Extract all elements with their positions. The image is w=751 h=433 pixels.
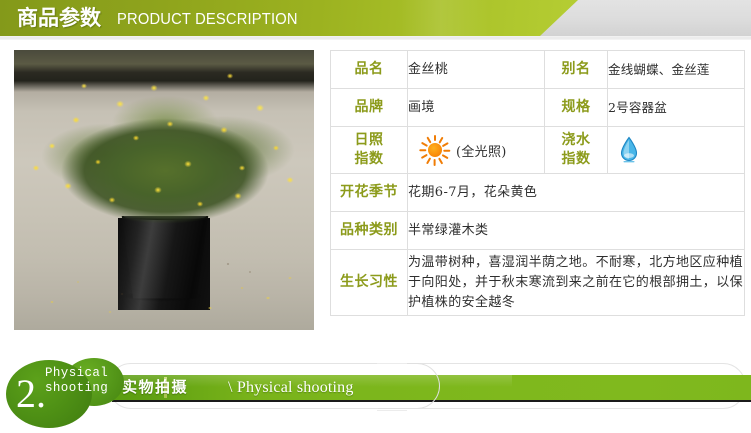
- spec-value-bieming: 金线蝴蝶、金丝莲: [608, 51, 745, 89]
- sun-icon: [418, 133, 452, 167]
- table-row: 日照 指数: [331, 127, 745, 174]
- spec-value-jiaoshui-zhishu: [608, 127, 745, 174]
- spec-table: 品名 金丝桃 别名 金线蝴蝶、金丝莲 品牌 画境 规格 2号容器盆 日照 指数: [330, 50, 745, 316]
- header-sheen: [400, 0, 490, 36]
- spec-label-bieming: 别名: [545, 51, 608, 89]
- section-title-cn: 实物拍摄: [122, 376, 188, 399]
- sun-core: [428, 143, 442, 157]
- table-row: 品种类别 半常绿灌木类: [331, 212, 745, 250]
- spec-label-rizhao-zhishu: 日照 指数: [331, 127, 408, 174]
- sun-note-label: (全光照): [456, 141, 507, 160]
- section-title-en: \ Physical shooting: [228, 376, 354, 399]
- spec-value-shengzhang-xixing: 为温带树种，喜湿润半荫之地。不耐寒，北方地区应种植于向阳处，并于秋末寒流到来之前…: [408, 250, 745, 316]
- section-physical-shooting: 实物拍摄 \ Physical shooting 2. Physical sho…: [0, 358, 751, 430]
- badge-label: Physical shooting: [45, 366, 125, 396]
- badge-label-line1: Physical: [45, 366, 125, 381]
- badge-number: 2.: [16, 372, 46, 416]
- spec-label-pinming: 品名: [331, 51, 408, 89]
- plant-flowers: [24, 68, 306, 236]
- spec-value-guige: 2号容器盆: [608, 89, 745, 127]
- spec-label-jiaoshui-zhishu: 浇水 指数: [545, 127, 608, 174]
- spec-value-pinpai: 画境: [408, 89, 545, 127]
- page-title-cn: 商品参数: [17, 4, 101, 32]
- table-row: 品名 金丝桃 别名 金线蝴蝶、金丝莲: [331, 51, 745, 89]
- table-row: 品牌 画境 规格 2号容器盆: [331, 89, 745, 127]
- sun-icon-cell: (全光照): [408, 133, 544, 167]
- badge-label-line2: shooting: [45, 381, 125, 396]
- table-row: 开花季节 花期6-7月，花朵黄色: [331, 174, 745, 212]
- product-description-page: 商品参数 PRODUCT DESCRIPTION 品名 金丝桃 别名 金线蝴蝶、…: [0, 0, 751, 433]
- page-title-en: PRODUCT DESCRIPTION: [117, 10, 298, 30]
- header-divider: [0, 36, 751, 41]
- spec-label-pinpai: 品牌: [331, 89, 408, 127]
- section-bar-notch: [378, 363, 440, 409]
- product-photo: [14, 50, 314, 330]
- spec-label-kaihua-jijie: 开花季节: [331, 174, 408, 212]
- page-header: 商品参数 PRODUCT DESCRIPTION: [0, 0, 751, 40]
- table-row: 生长习性 为温带树种，喜湿润半荫之地。不耐寒，北方地区应种植于向阳处，并于秋末寒…: [331, 250, 745, 316]
- spec-label-shengzhang-xixing: 生长习性: [331, 250, 408, 316]
- spec-value-rizhao-zhishu: (全光照): [408, 127, 545, 174]
- spec-label-guige: 规格: [545, 89, 608, 127]
- water-drop-icon: [618, 136, 640, 164]
- spec-label-pinzhong-leibie: 品种类别: [331, 212, 408, 250]
- spec-value-pinming: 金丝桃: [408, 51, 545, 89]
- spec-value-pinzhong-leibie: 半常绿灌木类: [408, 212, 745, 250]
- spec-value-kaihua-jijie: 花期6-7月，花朵黄色: [408, 174, 745, 212]
